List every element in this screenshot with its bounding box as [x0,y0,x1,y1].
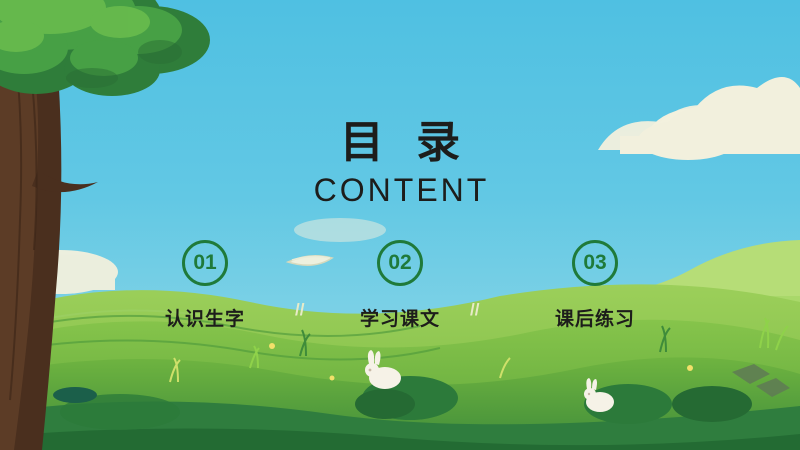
content-item-1-label: 认识生字 [165,304,245,331]
slide-canvas: 目 录 CONTENT // // 01 认识生字 02 学习课文 03 课后练… [0,0,800,450]
page-title-en: CONTENT [0,170,800,210]
content-items: 01 认识生字 02 学习课文 03 课后练习 [130,240,670,331]
content-item-3-label: 课后练习 [555,304,635,331]
slide-content: 目 录 CONTENT // // 01 认识生字 02 学习课文 03 课后练… [0,0,800,450]
content-item-2-label: 学习课文 [360,304,440,331]
content-item-1-number: 01 [182,240,228,286]
content-item-1[interactable]: 01 认识生字 [130,240,280,331]
content-item-3-number: 03 [572,240,618,286]
content-item-2[interactable]: 02 学习课文 [325,240,475,331]
content-item-2-number: 02 [377,240,423,286]
page-title-cn: 目 录 [0,118,800,168]
content-item-3[interactable]: 03 课后练习 [520,240,670,331]
